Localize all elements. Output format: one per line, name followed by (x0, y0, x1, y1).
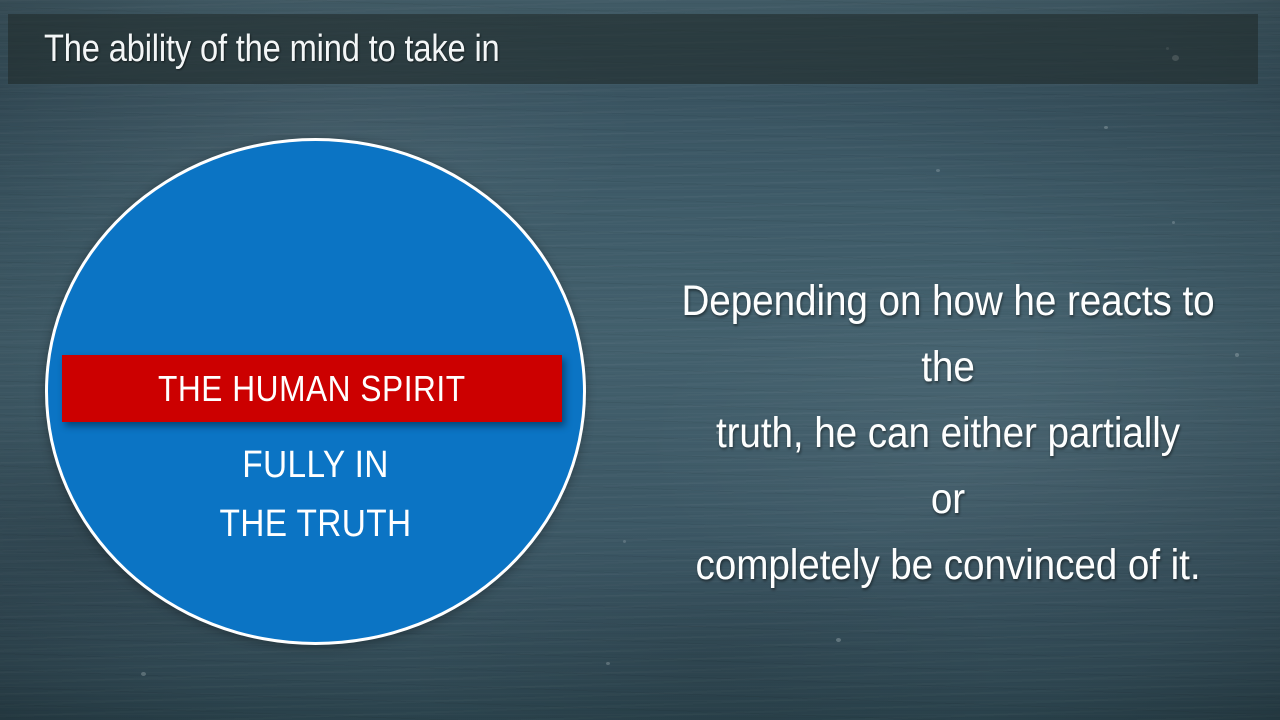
body-paragraph-line: or (662, 466, 1234, 532)
body-paragraph-line: completely be convinced of it. (662, 532, 1234, 598)
title-band: The ability of the mind to take in (8, 14, 1258, 84)
body-paragraph: Depending on how he reacts to the truth,… (630, 268, 1266, 598)
slide-canvas: The ability of the mind to take in THE H… (0, 0, 1280, 720)
circle-subtext: FULLY IN THE TRUTH (45, 436, 586, 554)
circle-subtext-line: THE TRUTH (77, 495, 553, 554)
human-spirit-banner-label: THE HUMAN SPIRIT (158, 368, 466, 410)
circle-subtext-line: FULLY IN (77, 436, 553, 495)
page-title: The ability of the mind to take in (44, 28, 500, 71)
human-spirit-banner: THE HUMAN SPIRIT (62, 355, 562, 422)
body-paragraph-line: truth, he can either partially (662, 400, 1234, 466)
body-paragraph-line: Depending on how he reacts to the (662, 268, 1234, 400)
